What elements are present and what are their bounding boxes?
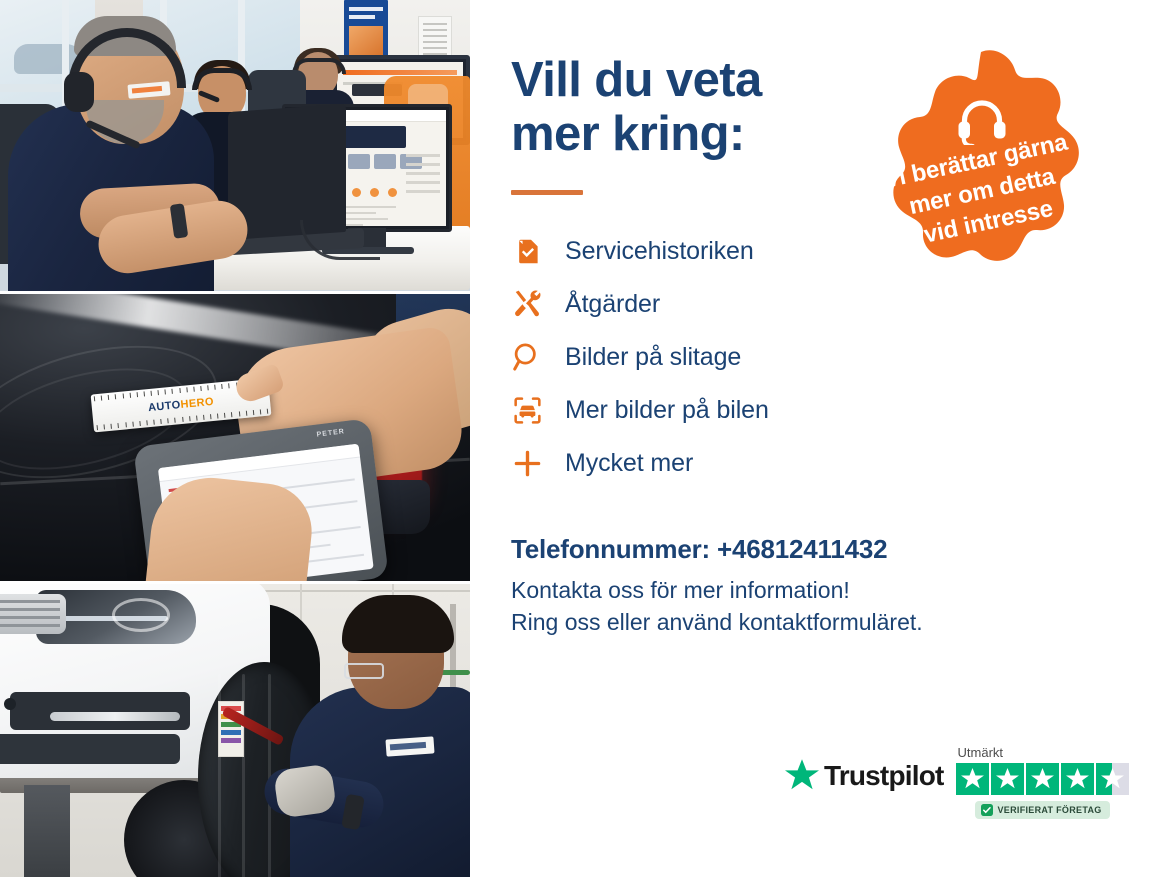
magnifier-icon xyxy=(511,341,543,373)
plus-icon xyxy=(511,447,543,479)
feature-label: Åtgärder xyxy=(565,290,660,319)
status-badge: VERIFIERAT FÖRETAG xyxy=(975,801,1110,819)
info-poster: AUTOHERO PETER xyxy=(0,0,1170,877)
title-divider xyxy=(511,190,583,195)
lower-bumper-vent xyxy=(0,734,180,764)
document-check-icon xyxy=(511,235,543,267)
feature-label: Mer bilder på bilen xyxy=(565,396,769,425)
feature-item-bilder-pa-slitage: Bilder på slitage xyxy=(511,331,1122,384)
foreground-agent xyxy=(0,34,230,294)
trustpilot-star-icon xyxy=(785,759,819,792)
car-lift-post xyxy=(24,785,70,877)
trustpilot-widget[interactable]: Trustpilot Utmärkt xyxy=(785,745,1129,819)
verified-text: VERIFIERAT FÖRETAG xyxy=(998,805,1102,815)
wall-banner xyxy=(344,0,388,60)
feature-item-mycket-mer: Mycket mer xyxy=(511,437,1122,490)
star-rating xyxy=(956,763,1129,795)
star-filled xyxy=(956,763,989,795)
chrome-trim xyxy=(50,712,180,721)
feature-item-mer-bilder-pa-bilen: Mer bilder på bilen xyxy=(511,384,1122,437)
star-filled xyxy=(991,763,1024,795)
star-filled xyxy=(1026,763,1059,795)
feature-label: Mycket mer xyxy=(565,449,693,478)
feature-label: Servicehistoriken xyxy=(565,237,754,266)
callout-badge: Vi berättar gärna mer om detta vid intre… xyxy=(858,49,1105,304)
star-half xyxy=(1096,763,1129,795)
fog-light xyxy=(4,698,16,710)
trustpilot-logo[interactable]: Trustpilot xyxy=(785,759,944,792)
technician xyxy=(270,617,470,877)
car-scan-frame-icon xyxy=(511,394,543,426)
bumper-vent xyxy=(10,692,190,730)
trustpilot-rating: Utmärkt xyxy=(956,745,1129,819)
ruler-brand-part-2: HERO xyxy=(180,396,214,411)
contact-line-1: Kontakta oss för mer information! xyxy=(511,577,850,603)
trustpilot-wordmark: Trustpilot xyxy=(824,760,944,792)
star-filled xyxy=(1061,763,1094,795)
headset-icon xyxy=(956,97,1008,145)
phone-number[interactable]: +46812411432 xyxy=(717,534,887,564)
tyre-change-workshop-photo xyxy=(0,584,470,877)
contact-text: Kontakta oss för mer information! Ring o… xyxy=(511,574,1122,639)
feature-label: Bilder på slitage xyxy=(565,343,741,372)
car-inspection-ruler-photo: AUTOHERO PETER xyxy=(0,294,470,584)
phone-label: Telefonnummer: xyxy=(511,534,710,564)
call-center-agents-photo xyxy=(0,0,470,294)
photo-column: AUTOHERO PETER xyxy=(0,0,470,877)
phone-line: Telefonnummer: +46812411432 xyxy=(511,534,1122,565)
check-badge-icon xyxy=(981,804,993,816)
contact-line-2: Ring oss eller använd kontaktformuläret. xyxy=(511,609,923,635)
wrench-screwdriver-icon xyxy=(511,288,543,320)
contact-block: Telefonnummer: +46812411432 Kontakta oss… xyxy=(511,534,1122,639)
rating-label: Utmärkt xyxy=(956,745,1004,760)
front-grille xyxy=(0,594,66,634)
ruler-brand-part-1: AUTO xyxy=(148,399,182,414)
